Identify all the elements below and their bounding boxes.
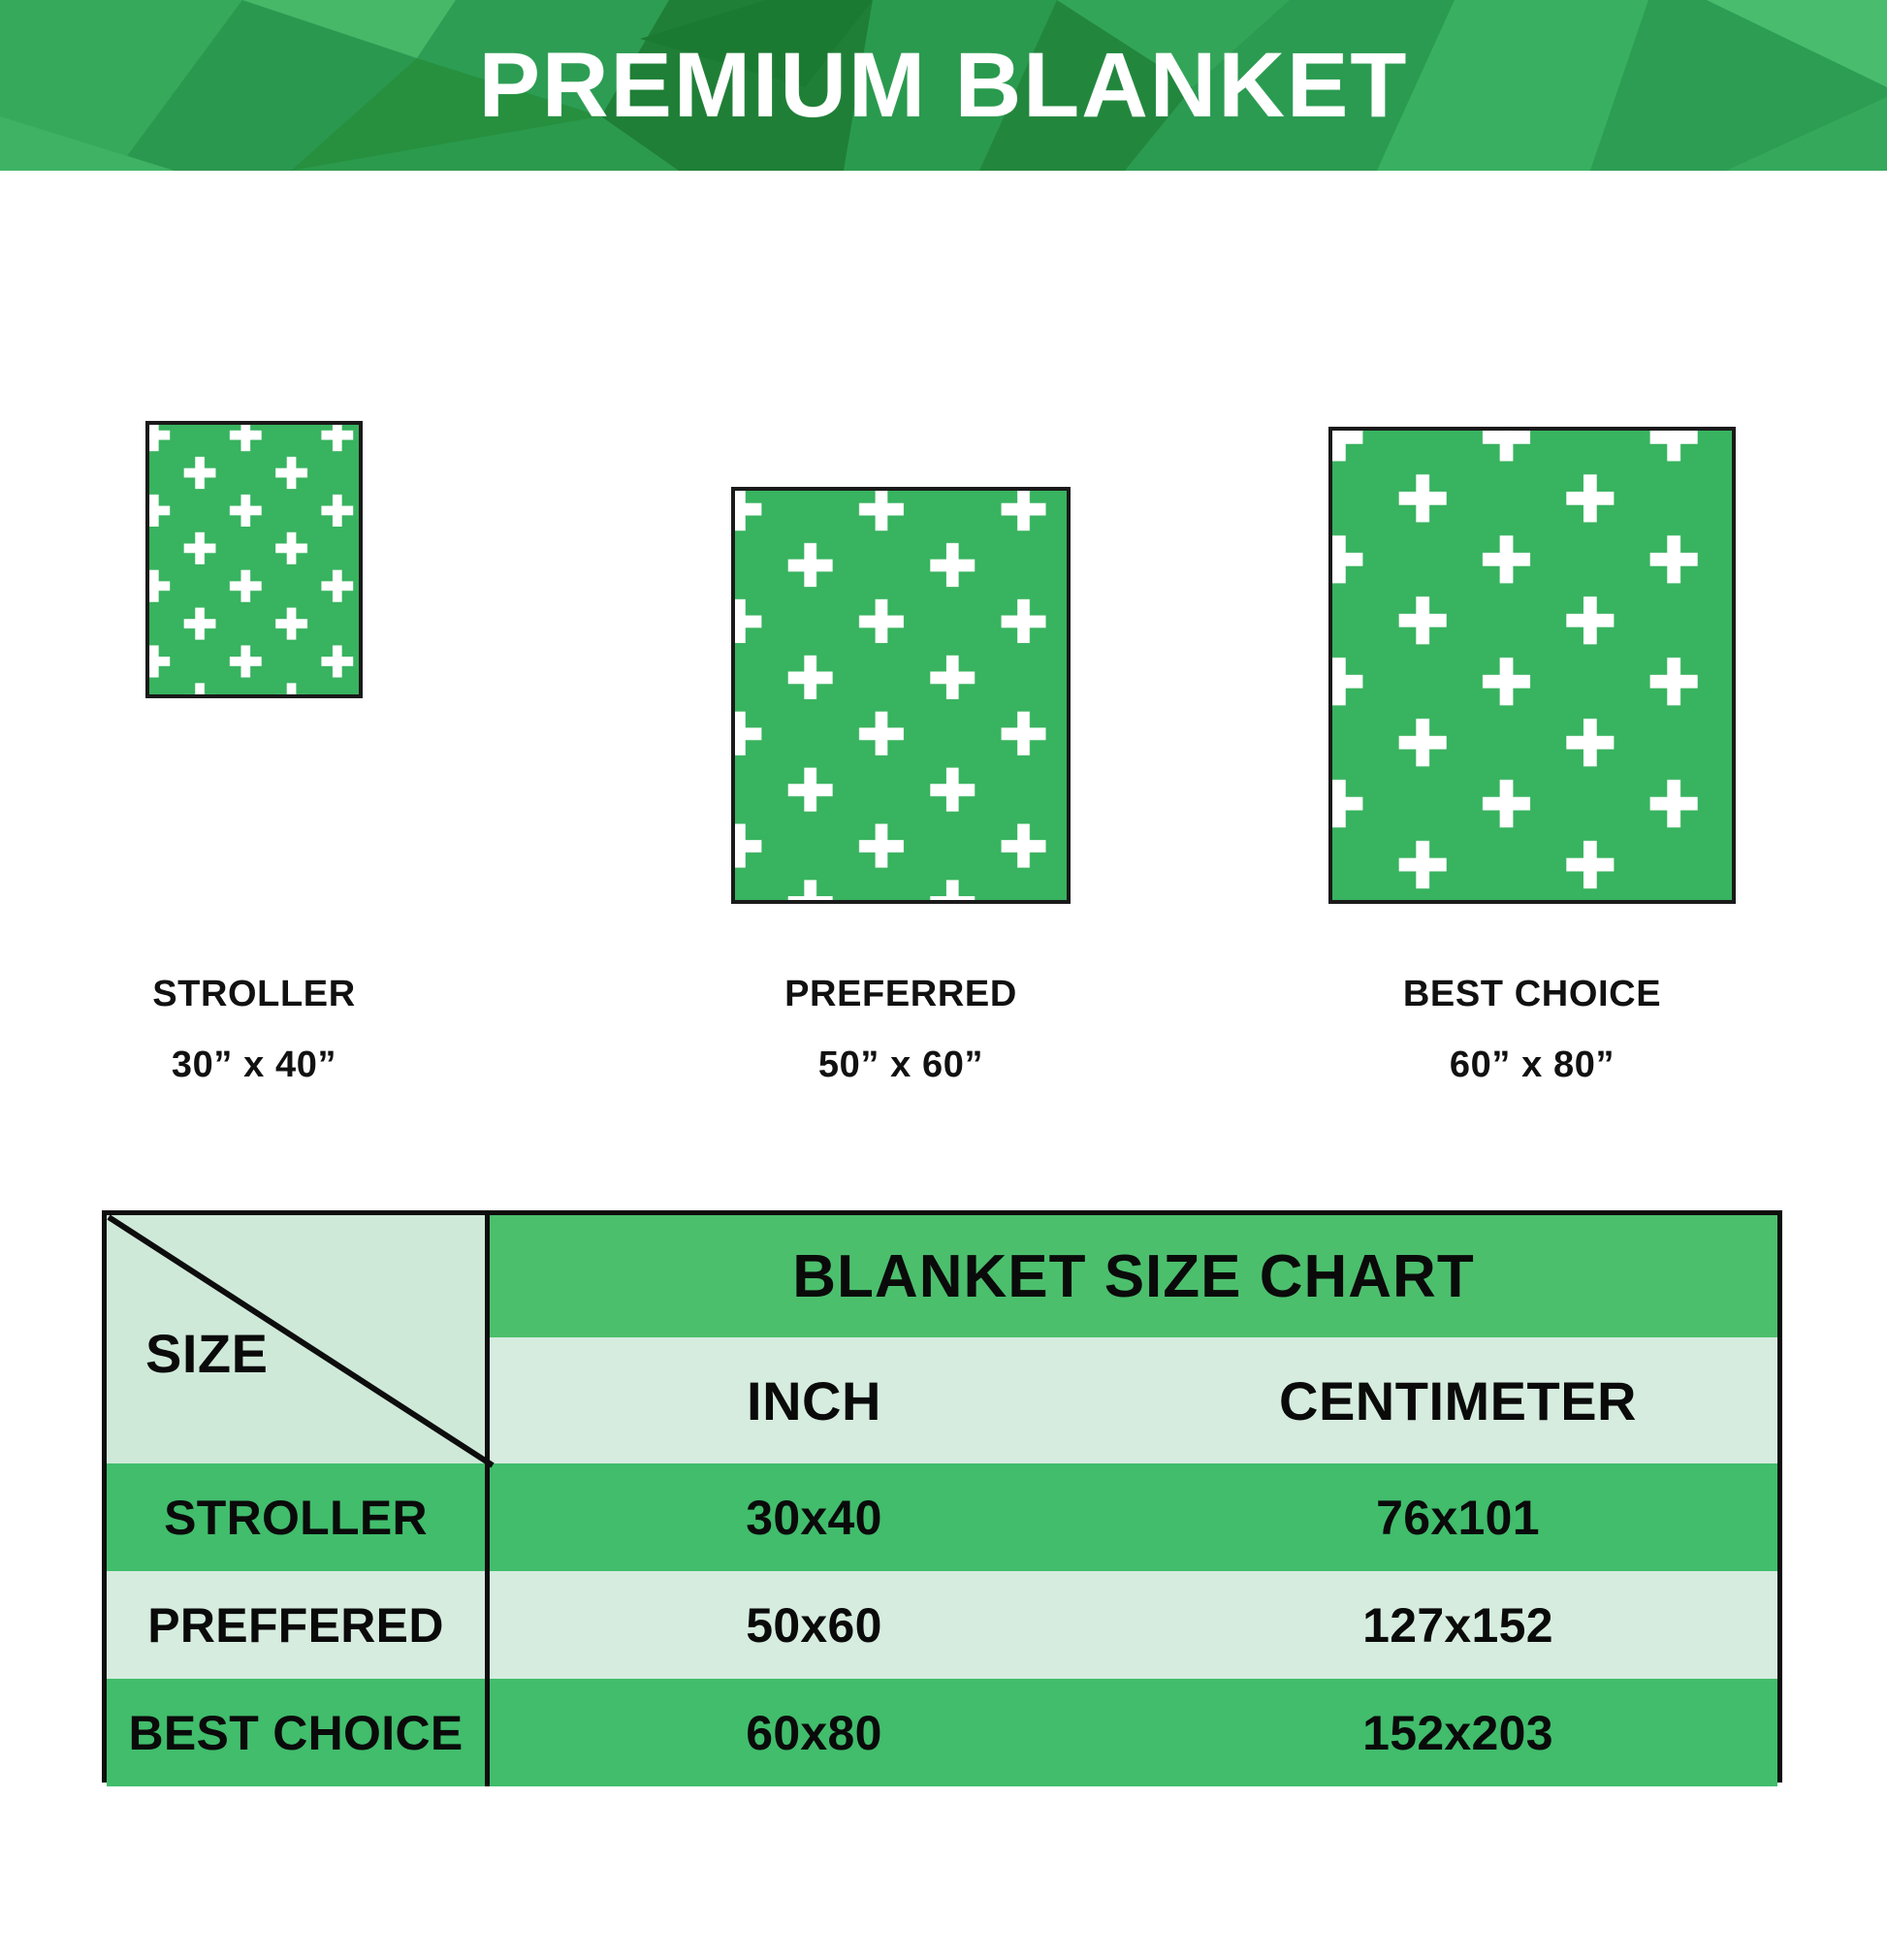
header-banner: PREMIUM BLANKET: [0, 0, 1887, 171]
blanket-dims-best-choice: 60” x 80”: [1338, 1041, 1726, 1090]
cell-preffered-inch: 50x60: [490, 1571, 1138, 1679]
blanket-name-preferred: PREFERRED: [707, 970, 1095, 1019]
cell-preffered-centimeter: 127x152: [1138, 1571, 1777, 1679]
blanket-dims-stroller: 30” x 40”: [60, 1041, 448, 1090]
blanket-swatch-stroller: [145, 421, 363, 698]
blanket-caption-best-choice: BEST CHOICE 60” x 80”: [1338, 970, 1726, 1091]
cross-motif-pattern-icon: [735, 491, 1067, 900]
blanket-caption-preferred: PREFERRED 50” x 60”: [707, 970, 1095, 1091]
cell-best-choice-centimeter: 152x203: [1138, 1679, 1777, 1786]
table-corner-label: SIZE: [145, 1322, 268, 1385]
cell-best-choice-inch: 60x80: [490, 1679, 1138, 1786]
table-row: PREFFERED 50x60 127x152: [107, 1571, 1777, 1679]
row-header-stroller: STROLLER: [107, 1463, 490, 1571]
blanket-name-stroller: STROLLER: [60, 970, 448, 1019]
cell-stroller-centimeter: 76x101: [1138, 1463, 1777, 1571]
cross-motif-pattern-icon: [1332, 431, 1732, 900]
blanket-size-chart-table: BLANKET SIZE CHART INCH CENTIMETER SIZE …: [102, 1210, 1782, 1783]
column-header-centimeter: CENTIMETER: [1138, 1337, 1777, 1463]
row-header-preffered: PREFFERED: [107, 1571, 490, 1679]
table-title: BLANKET SIZE CHART: [490, 1215, 1777, 1337]
cell-stroller-inch: 30x40: [490, 1463, 1138, 1571]
blanket-caption-stroller: STROLLER 30” x 40”: [60, 970, 448, 1091]
blanket-swatch-best-choice: [1328, 427, 1736, 904]
column-header-inch: INCH: [490, 1337, 1138, 1463]
cross-motif-pattern-icon: [149, 425, 359, 694]
blanket-name-best-choice: BEST CHOICE: [1338, 970, 1726, 1019]
page-title: PREMIUM BLANKET: [0, 0, 1887, 171]
table-row: BEST CHOICE 60x80 152x203: [107, 1679, 1777, 1786]
blanket-dims-preferred: 50” x 60”: [707, 1041, 1095, 1090]
row-header-best-choice: BEST CHOICE: [107, 1679, 490, 1786]
table-row: STROLLER 30x40 76x101: [107, 1463, 1777, 1571]
blanket-swatch-preferred: [731, 487, 1071, 904]
